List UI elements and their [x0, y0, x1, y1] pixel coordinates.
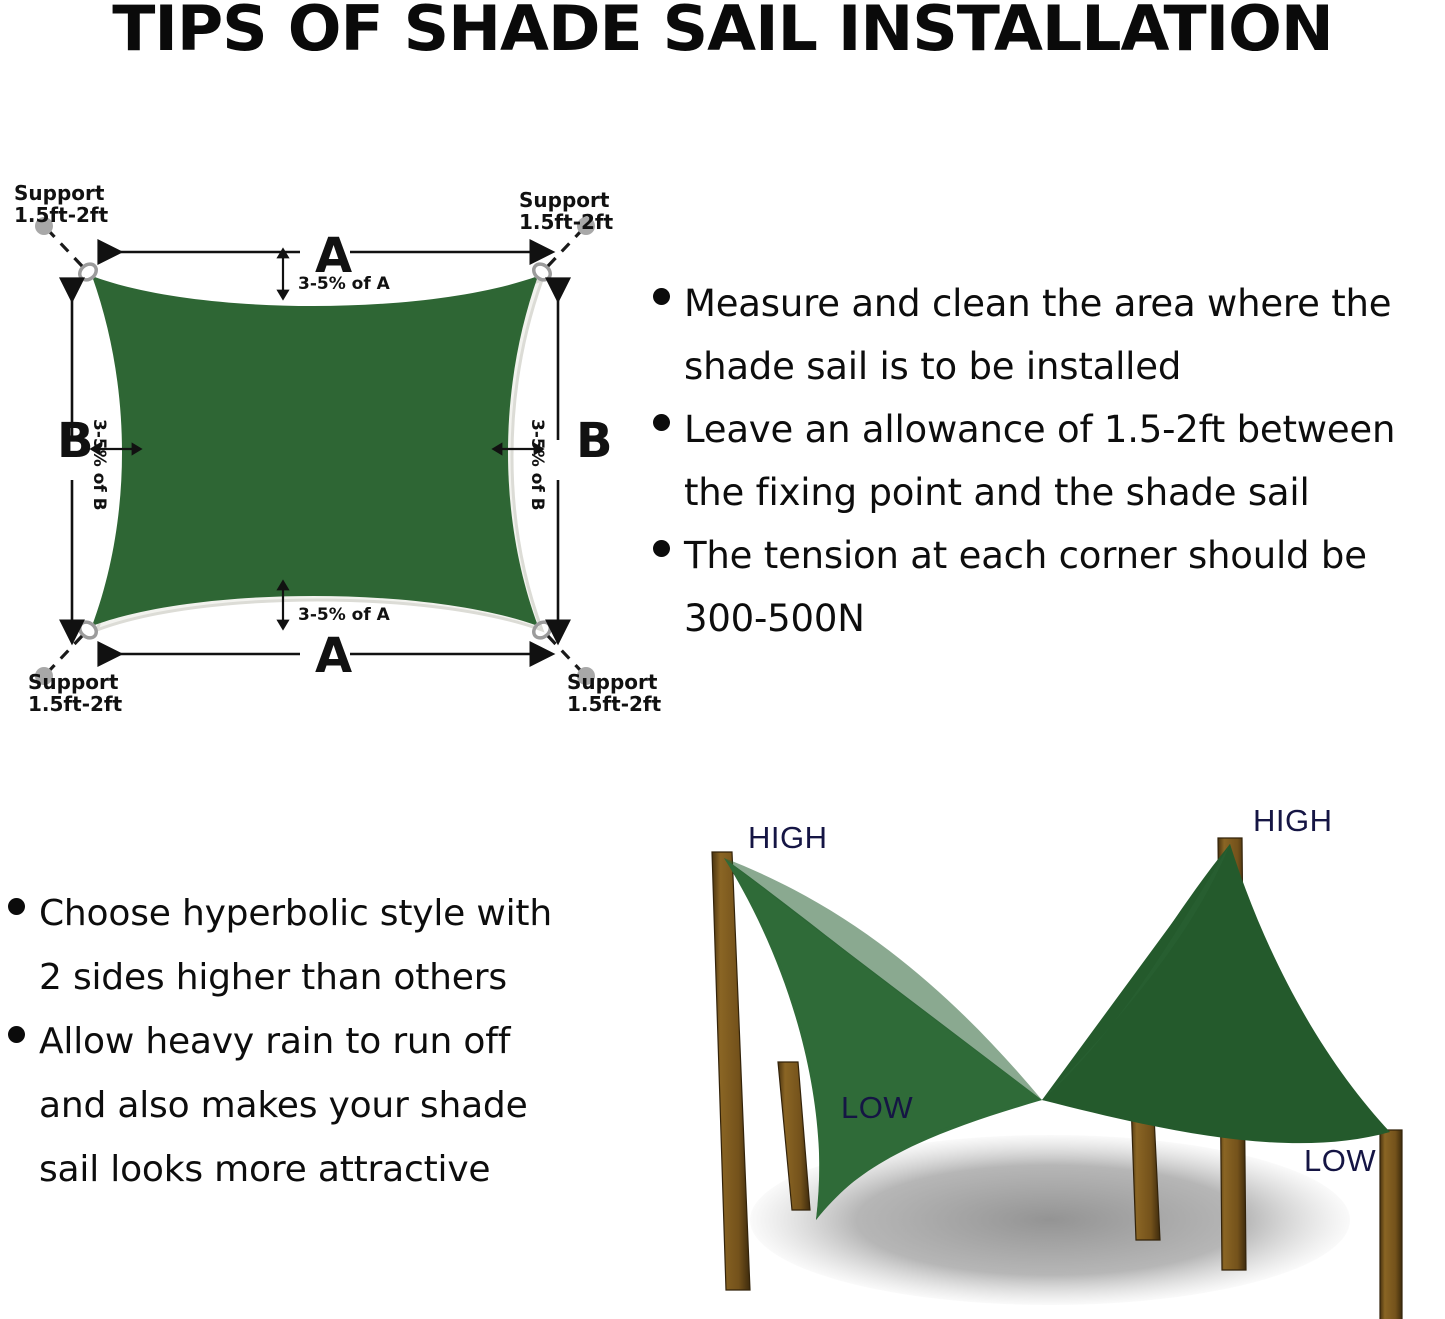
support-label-bottom-left: Support1.5ft-2ft: [28, 671, 122, 716]
hyperbolic-tips-list: Choose hyperbolic style with 2 sides hig…: [8, 882, 628, 1202]
bullet-icon: [653, 540, 670, 557]
list-item-text: Allow heavy rain to run off and also mak…: [39, 1010, 528, 1202]
bullet-icon: [653, 414, 670, 431]
curvature-label-bottom: 3-5% of A: [298, 606, 390, 625]
list-item: The tension at each corner should be 300…: [653, 524, 1445, 650]
support-label-top-right: Support1.5ft-2ft: [519, 189, 613, 234]
support-line-top-right: [548, 230, 582, 266]
curvature-label-right: 3-5% of B: [527, 419, 546, 511]
sail-shape: [92, 276, 542, 630]
dimension-label-a-top: A: [315, 232, 352, 280]
label-high-left: HIGH: [748, 820, 828, 856]
post-high-left: [712, 852, 750, 1290]
sail-body: [92, 276, 538, 626]
support-label-bottom-right: Support1.5ft-2ft: [567, 671, 661, 716]
list-item: Allow heavy rain to run off and also mak…: [8, 1010, 628, 1202]
hyperbolic-sail-diagram: [690, 800, 1445, 1319]
support-line-bottom-right: [548, 636, 582, 672]
list-item-text: Measure and clean the area where the sha…: [684, 272, 1391, 398]
curvature-label-top: 3-5% of A: [298, 275, 390, 294]
support-label-top-left: Support1.5ft-2ft: [14, 182, 108, 227]
label-low-right: LOW: [1304, 1143, 1376, 1179]
support-line-top-left: [48, 230, 82, 266]
list-item-text: Leave an allowance of 1.5-2ft between th…: [684, 398, 1395, 524]
page-title: TIPS OF SHADE SAIL INSTALLATION: [0, 0, 1445, 65]
list-item-text: Choose hyperbolic style with 2 sides hig…: [39, 882, 552, 1010]
dimension-label-b-right: B: [576, 417, 613, 465]
dimension-label-a-bottom: A: [315, 632, 352, 680]
label-low-left: LOW: [841, 1090, 913, 1126]
list-item-text: The tension at each corner should be 300…: [684, 524, 1367, 650]
installation-tips-list: Measure and clean the area where the sha…: [653, 272, 1445, 650]
list-item: Measure and clean the area where the sha…: [653, 272, 1445, 398]
bullet-icon: [8, 898, 25, 915]
support-line-bottom-left: [48, 636, 82, 672]
bullet-icon: [8, 1026, 25, 1043]
curvature-label-left: 3-5% of B: [89, 419, 108, 511]
label-high-right: HIGH: [1253, 803, 1333, 839]
post-low-right: [1380, 1130, 1402, 1319]
bullet-icon: [653, 288, 670, 305]
list-item: Leave an allowance of 1.5-2ft between th…: [653, 398, 1445, 524]
list-item: Choose hyperbolic style with 2 sides hig…: [8, 882, 628, 1010]
